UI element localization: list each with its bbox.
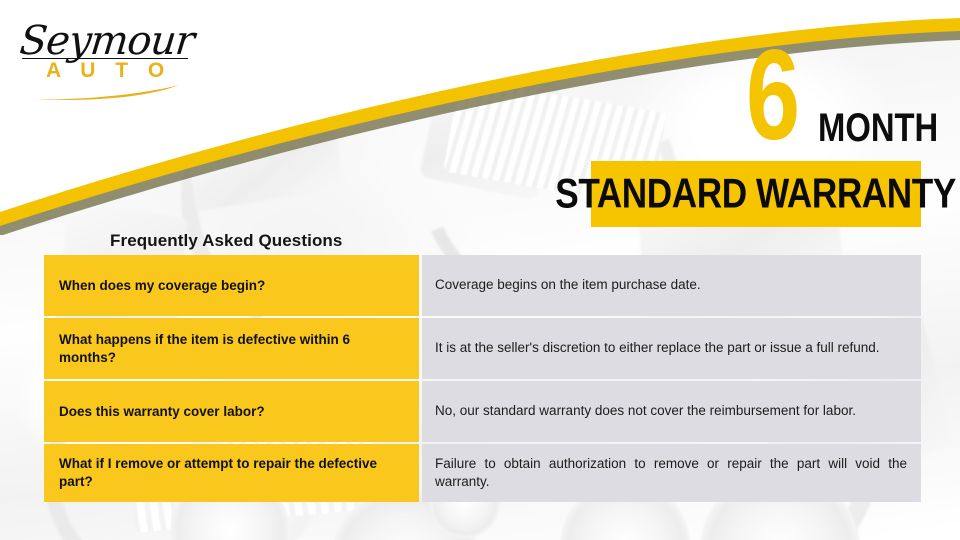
duration-unit: MONTH	[818, 108, 938, 148]
standard-warranty-banner: STANDARD WARRANTY	[591, 161, 921, 227]
faq-answer: No, our standard warranty does not cover…	[422, 381, 921, 442]
faq-answer: It is at the seller's discretion to eith…	[422, 318, 921, 379]
logo-subtext: A U T O	[46, 59, 171, 83]
table-row: Does this warranty cover labor? No, our …	[44, 381, 921, 442]
table-row: What happens if the item is defective wi…	[44, 318, 921, 379]
logo-wordmark: Seymour	[18, 18, 196, 64]
faq-table: When does my coverage begin? Coverage be…	[44, 255, 921, 504]
faq-answer: Failure to obtain authorization to remov…	[422, 444, 921, 502]
faq-answer: Coverage begins on the item purchase dat…	[422, 255, 921, 316]
faq-question: What happens if the item is defective wi…	[44, 318, 419, 379]
warranty-faq-slide: Seymour A U T O 6 MONTH STANDARD WARRANT…	[0, 0, 960, 540]
warranty-duration-badge: 6 MONTH	[740, 46, 940, 156]
faq-question: Does this warranty cover labor?	[44, 381, 419, 442]
faq-question: When does my coverage begin?	[44, 255, 419, 316]
faq-heading: Frequently Asked Questions	[110, 231, 342, 251]
table-row: What if I remove or attempt to repair th…	[44, 444, 921, 502]
duration-number: 6	[746, 32, 800, 160]
table-row: When does my coverage begin? Coverage be…	[44, 255, 921, 316]
seymour-auto-logo: Seymour A U T O	[14, 12, 194, 107]
logo-swoosh-icon	[26, 84, 181, 102]
faq-question: What if I remove or attempt to repair th…	[44, 444, 419, 502]
banner-title: STANDARD WARRANTY	[556, 170, 957, 217]
